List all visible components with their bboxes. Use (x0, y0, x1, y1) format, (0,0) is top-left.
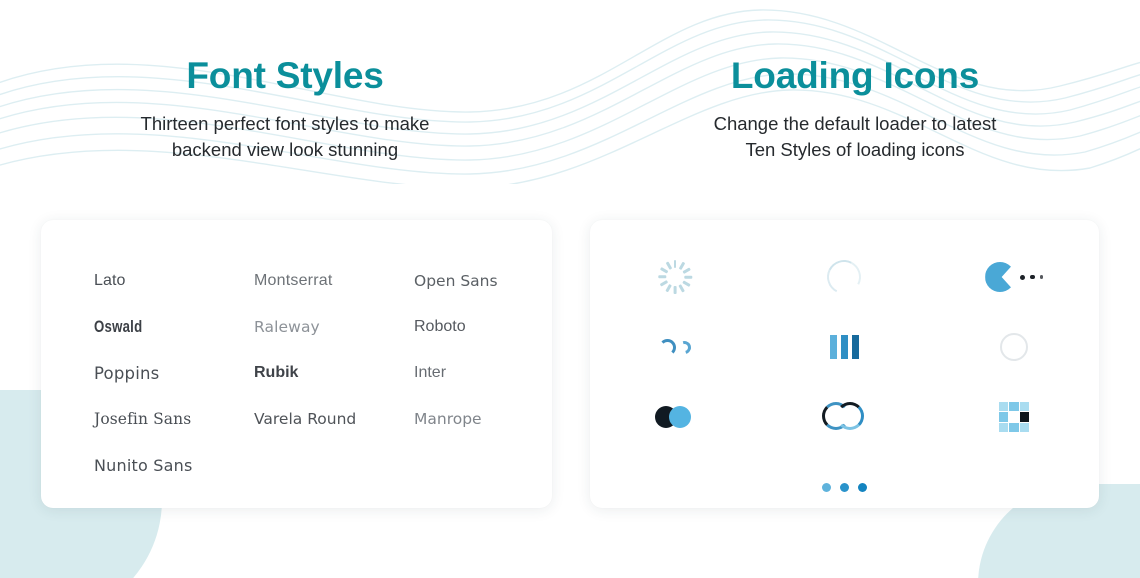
loading-icons-grid (590, 242, 1099, 522)
panel-subtitle-font-styles: Thirteen perfect font styles to make bac… (75, 111, 495, 164)
mosaic-tile (1020, 402, 1029, 411)
mosaic-tile (1009, 423, 1018, 432)
loader-option-double-crescent[interactable] (643, 315, 707, 379)
font-item-josefin-sans[interactable]: Josefin Sans (94, 410, 254, 428)
mosaic-tile (999, 423, 1008, 432)
font-item-montserrat[interactable]: Montserrat (254, 272, 414, 290)
radial-spinner-icon (658, 260, 692, 294)
loader-option-three-dots[interactable] (813, 455, 877, 519)
loader-option-two-circles[interactable] (643, 385, 707, 449)
pacman-dot (1020, 275, 1025, 280)
loader-option-pacman[interactable] (982, 245, 1046, 309)
circle-light (669, 406, 691, 428)
arc-right (836, 402, 864, 430)
mosaic-tile (1009, 402, 1018, 411)
font-item-open-sans[interactable]: Open Sans (414, 272, 554, 290)
font-item-oswald[interactable]: Oswald (94, 318, 222, 337)
loader-option-arc-ring[interactable] (812, 245, 876, 309)
three-bars-loader-icon (830, 335, 859, 359)
gray-ring-loader-icon (1000, 333, 1028, 361)
two-circles-loader-icon (655, 406, 695, 428)
bar-segment (852, 335, 859, 359)
font-item-rubik[interactable]: Rubik (254, 364, 414, 382)
bar-segment (830, 335, 837, 359)
mosaic-tile (1009, 412, 1018, 421)
pacman-dots-loader-icon (985, 262, 1043, 292)
dot (822, 483, 831, 492)
font-item-varela-round[interactable]: Varela Round (254, 410, 414, 428)
font-item-lato[interactable]: Lato (94, 272, 254, 290)
mosaic-grid-loader-icon (999, 402, 1029, 432)
panel-title-loading-icons: Loading Icons (570, 56, 1140, 97)
arc-ring-spinner-icon (823, 256, 866, 299)
pacman-dot (1040, 275, 1044, 279)
dot (858, 483, 867, 492)
double-crescent-icon (659, 339, 691, 356)
loader-option-three-bars[interactable] (812, 315, 876, 379)
pacman-dot (1030, 275, 1035, 280)
font-styles-grid: Lato Montserrat Open Sans Oswald Raleway… (94, 258, 514, 488)
font-item-nunito-sans[interactable]: Nunito Sans (94, 456, 254, 475)
bar-segment (841, 335, 848, 359)
facing-arcs-loader-icon (829, 402, 859, 432)
font-item-manrope[interactable]: Manrope (414, 410, 554, 428)
font-item-roboto[interactable]: Roboto (414, 318, 554, 336)
mosaic-tile (1020, 423, 1029, 432)
loader-option-facing-arcs[interactable] (812, 385, 876, 449)
mosaic-tile (999, 402, 1008, 411)
panel-title-font-styles: Font Styles (0, 56, 570, 97)
font-item-poppins[interactable]: Poppins (94, 364, 254, 383)
three-dots-loader-icon (822, 483, 867, 492)
font-item-raleway[interactable]: Raleway (254, 318, 414, 336)
loader-option-radial-spinner[interactable] (643, 245, 707, 309)
page-root: Font Styles Thirteen perfect font styles… (0, 0, 1140, 578)
loading-icons-card (590, 220, 1099, 508)
loader-option-mosaic-grid[interactable] (982, 385, 1046, 449)
panel-subtitle-loading-icons: Change the default loader to latest Ten … (645, 111, 1065, 164)
mosaic-tile (1020, 412, 1029, 421)
crescent-arc (675, 338, 693, 356)
mosaic-tile (999, 412, 1008, 421)
font-styles-card: Lato Montserrat Open Sans Oswald Raleway… (41, 220, 552, 508)
pacman-shape (985, 262, 1015, 292)
font-item-inter[interactable]: Inter (414, 364, 554, 382)
crescent-arc (659, 339, 676, 356)
dot (840, 483, 849, 492)
loader-option-gray-ring[interactable] (982, 315, 1046, 379)
